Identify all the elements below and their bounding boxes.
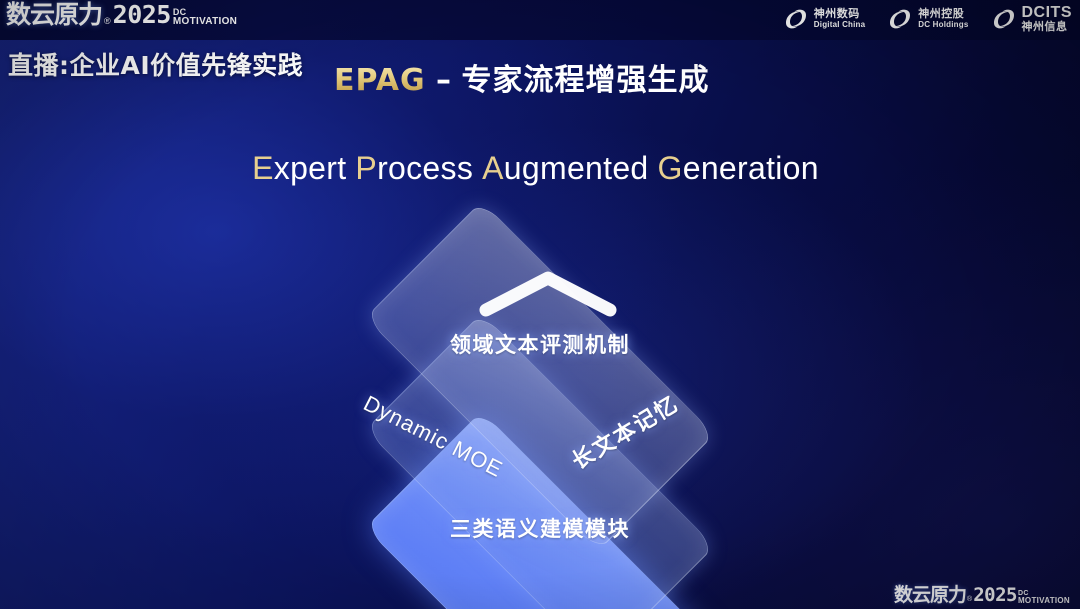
subtitle-word-process: Process <box>355 150 473 186</box>
accent-rule-divider <box>392 118 693 131</box>
chevron-up-icon <box>478 270 618 316</box>
brand-logo: 数云原力 ® 2025 DC MOTIVATION <box>6 2 237 28</box>
subtitle-cap: G <box>658 150 683 186</box>
subtitle-rest: eneration <box>683 150 819 186</box>
page-title: EPAG – 专家流程增强生成 <box>334 55 709 99</box>
partner-label: 神州控股 DC Holdings <box>918 8 968 30</box>
subtitle-cap: E <box>252 150 274 186</box>
subtitle-cap: P <box>355 150 377 186</box>
watermark-name-cn: 数云原力 <box>894 585 966 605</box>
partner-name-cn: 神州控股 <box>918 8 968 19</box>
partner-logo-digital-china: 神州数码 Digital China <box>783 7 866 31</box>
title-separator: – <box>426 63 462 98</box>
partner-name-en: DC Holdings <box>918 19 968 30</box>
subtitle-word-generation: Generation <box>658 150 819 186</box>
swirl-logo-icon <box>783 7 809 31</box>
live-stream-title: 直播:企业AI价值先锋实践 <box>8 46 303 82</box>
subtitle-rest: rocess <box>377 150 473 186</box>
watermark-logo: 数云原力 ® 2025 DC MOTIVATION <box>894 585 1070 605</box>
subtitle-rest: xpert <box>274 150 347 186</box>
brand-name-cn: 数云原力 <box>6 2 102 28</box>
layered-stack-diagram: Dynamic MOE 长文本记忆 领域文本评测机制 三类语义建模模块 <box>290 225 790 585</box>
subtitle-rest: ugmented <box>504 150 649 186</box>
partner-name-en: DCITS <box>1022 5 1073 21</box>
stack-label-bottom: 三类语义建模模块 <box>290 513 790 543</box>
registered-mark-icon: ® <box>104 14 111 28</box>
partner-name-cn: 神州数码 <box>814 8 866 19</box>
swirl-logo-icon <box>991 7 1017 31</box>
slide-canvas: 数云原力 ® 2025 DC MOTIVATION 直播:企业AI价值先锋实践 … <box>0 0 1080 609</box>
brand-subtitle: DC MOTIVATION <box>173 8 237 28</box>
partner-label: DCITS 神州信息 <box>1022 5 1073 32</box>
subtitle-word-augmented: Augmented <box>482 150 648 186</box>
subtitle-word-expert: Expert <box>252 150 346 186</box>
watermark-year: 2025 <box>973 585 1017 605</box>
partner-logo-dc-holdings: 神州控股 DC Holdings <box>887 7 968 31</box>
title-chinese: 专家流程增强生成 <box>461 63 709 98</box>
partner-name-en: Digital China <box>814 19 866 30</box>
registered-mark-icon: ® <box>967 594 972 605</box>
watermark-subtitle: DC MOTIVATION <box>1018 590 1070 605</box>
partner-label: 神州数码 Digital China <box>814 8 866 30</box>
title-acronym: EPAG <box>334 63 426 98</box>
partner-name-cn: 神州信息 <box>1022 21 1073 32</box>
partner-logo-dcits: DCITS 神州信息 <box>991 5 1073 32</box>
subtitle-expanded: ExpertProcessAugmentedGeneration <box>0 150 1080 187</box>
watermark-sub-line2: MOTIVATION <box>1018 597 1070 604</box>
brand-year: 2025 <box>113 2 171 28</box>
swirl-logo-icon <box>887 7 913 31</box>
stack-label-top: 领域文本评测机制 <box>290 329 790 359</box>
subtitle-cap: A <box>482 150 504 186</box>
partner-logo-group: 神州数码 Digital China 神州控股 DC Holdings <box>783 5 1072 32</box>
brand-sub-line2: MOTIVATION <box>173 17 237 26</box>
